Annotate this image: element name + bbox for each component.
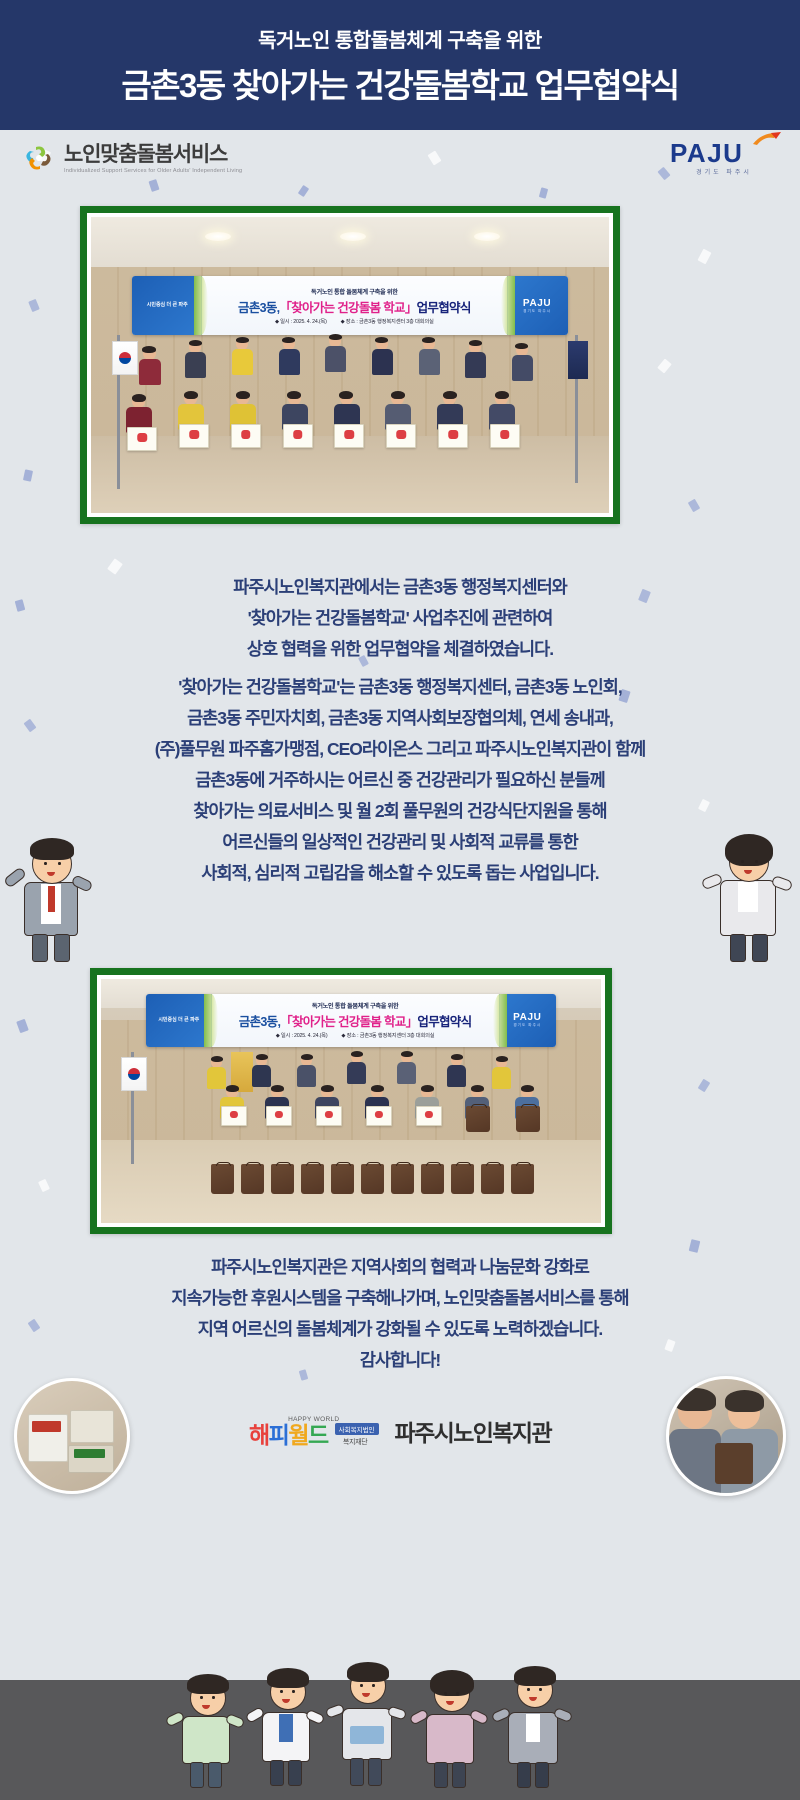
paragraph3-line3: 지역 어르신의 돌봄체계가 강화될 수 있도록 노력하겠습니다. [0, 1314, 800, 1345]
gift-bag [211, 1164, 234, 1194]
logo-bar: 노인맞춤돌봄서비스 Individualized Support Service… [0, 130, 800, 202]
gift-bag [511, 1164, 534, 1194]
character-illustration-2 [248, 1666, 324, 1790]
banner-paju-logo: PAJU 경기도 파주시 [499, 994, 556, 1048]
event-banner: 시민중심 더 큰 파주 독거노인 통합 돌봄체계 구축을 위한 금촌3동,「찾아… [146, 994, 556, 1048]
care-hands-icon [22, 142, 56, 176]
gift-bag [271, 1164, 294, 1194]
event-banner: 시민중심 더 큰 파주 독거노인 통합 돌봄체계 구축을 위한 금촌3동,「찾아… [132, 276, 567, 335]
gift-bag [391, 1164, 414, 1194]
paragraph1-line3: 상호 협력을 위한 업무협약을 체결하였습니다. [0, 634, 800, 665]
paragraph3-line2: 지속가능한 후원시스템을 구축해나가며, 노인맞춤돌봄서비스를 통해 [0, 1283, 800, 1314]
happyworld-wordmark: 해피월드 [249, 1424, 328, 1447]
paju-swoosh-icon [752, 131, 782, 147]
gift-bag [241, 1164, 264, 1194]
gift-bag [451, 1164, 474, 1194]
happyworld-sub-label: 복지재단 [343, 1437, 368, 1447]
paragraph2-line3: (주)풀무원 파주홈가맹점, CEO라이온스 그리고 파주시노인복지관이 함께 [0, 734, 800, 765]
paragraph2-line1: '찾아가는 건강돌봄학교'는 금촌3동 행정복지센터, 금촌3동 노인회, [0, 672, 800, 703]
paragraph2-line2: 금촌3동 주민자치회, 금촌3동 지역사회보장협의체, 연세 송내과, [0, 703, 800, 734]
confetti-piece [38, 1179, 50, 1192]
mou-ceremony-photo: 시민중심 더 큰 파주 독거노인 통합 돌봄체계 구축을 위한 금촌3동,「찾아… [80, 206, 620, 524]
female-character-illustration [704, 832, 792, 964]
intro-paragraph: 파주시노인복지관에서는 금촌3동 행정복지센터와 '찾아가는 건강돌봄학교' 사… [0, 572, 800, 665]
happyworld-badge: 사회복지법인 [335, 1423, 379, 1435]
paju-city-logo: PAJU 경기도 파주시 [670, 140, 778, 184]
gift-bag [481, 1164, 504, 1194]
gift-bag [421, 1164, 444, 1194]
gift-bag [361, 1164, 384, 1194]
happyworld-foundation-logo: HAPPY WORLD 해피월드 사회복지법인 복지재단 [249, 1416, 379, 1447]
confetti-piece [657, 359, 672, 374]
character-illustration-1 [168, 1672, 244, 1790]
gift-bag [301, 1164, 324, 1194]
gift-delivery-photo: 시민중심 더 큰 파주 독거노인 통합 돌봄체계 구축을 위한 금촌3동,「찾아… [90, 968, 612, 1234]
paragraph3-line4: 감사합니다! [0, 1345, 800, 1376]
header-subtitle: 독거노인 통합돌봄체계 구축을 위한 [258, 24, 542, 53]
confetti-piece [16, 1019, 29, 1033]
banner-paju-logo: PAJU 경기도 파주시 [507, 276, 568, 335]
confetti-piece [698, 1079, 711, 1093]
page-title: 금촌3동 찾아가는 건강돌봄학교 업무협약식 [121, 59, 678, 107]
confetti-piece [689, 1239, 701, 1253]
program-description-paragraph: '찾아가는 건강돌봄학교'는 금촌3동 행정복지센터, 금촌3동 노인회, 금촌… [0, 672, 800, 889]
banner-line2: 금촌3동,「찾아가는 건강돌봄 학교」업무협약식 [239, 1011, 472, 1030]
paragraph2-line7: 사회적, 심리적 고립감을 해소할 수 있도록 돕는 사업입니다. [0, 858, 800, 889]
page-header: 독거노인 통합돌봄체계 구축을 위한 금촌3동 찾아가는 건강돌봄학교 업무협약… [0, 0, 800, 130]
paju-senior-welfare-center-name: 파주시노인복지관 [395, 1414, 551, 1448]
paragraph2-line6: 어르신들의 일상적인 건강관리 및 사회적 교류를 통한 [0, 827, 800, 858]
character-illustration-3 [326, 1660, 406, 1790]
care-service-logo: 노인맞춤돌봄서비스 Individualized Support Service… [22, 142, 242, 176]
character-illustration-4 [412, 1668, 488, 1790]
closing-paragraph: 파주시노인복지관은 지역사회의 협력과 나눔문화 강화로 지속가능한 후원시스템… [0, 1252, 800, 1376]
care-service-logo-tagline: Individualized Support Services for Olde… [64, 168, 242, 174]
gift-bag [331, 1164, 354, 1194]
paragraph2-line4: 금촌3동에 거주하시는 어르신 중 건강관리가 필요하신 분들께 [0, 765, 800, 796]
confetti-piece [688, 499, 700, 513]
male-character-illustration [8, 836, 94, 964]
paragraph1-line1: 파주시노인복지관에서는 금촌3동 행정복지센터와 [0, 572, 800, 603]
banner-line1: 독거노인 통합 돌봄체계 구축을 위한 [311, 287, 398, 296]
banner-city-brand: 시민중심 더 큰 파주 [132, 276, 202, 335]
banner-line2: 금촌3동,「찾아가는 건강돌봄 학교」업무협약식 [238, 297, 471, 316]
character-illustration-5 [494, 1664, 572, 1790]
paragraph3-line1: 파주시노인복지관은 지역사회의 협력과 나눔문화 강화로 [0, 1252, 800, 1283]
paragraph2-line5: 찾아가는 의료서비스 및 월 2회 풀무원의 건강식단지원을 통해 [0, 796, 800, 827]
care-service-logo-name: 노인맞춤돌봄서비스 [64, 144, 242, 166]
confetti-piece [23, 469, 33, 481]
banner-city-brand: 시민중심 더 큰 파주 [146, 994, 212, 1048]
paju-sub-label: 경기도 파주시 [670, 167, 778, 176]
paragraph1-line2: '찾아가는 건강돌봄학교' 사업추진에 관련하여 [0, 603, 800, 634]
banner-details: ◆ 일시 : 2025. 4. 24.(목) ◆ 장소 : 금촌3동 행정복지센… [276, 1031, 435, 1039]
banner-line1: 독거노인 통합 돌봄체계 구축을 위한 [312, 1001, 399, 1010]
confetti-piece [28, 299, 40, 312]
footer-logo-row: HAPPY WORLD 해피월드 사회복지법인 복지재단 파주시노인복지관 [0, 1392, 800, 1470]
confetti-piece [697, 249, 711, 265]
banner-details: ◆ 일시 : 2025. 4. 24.(목) ◆ 장소 : 금촌3동 행정복지센… [275, 317, 434, 325]
